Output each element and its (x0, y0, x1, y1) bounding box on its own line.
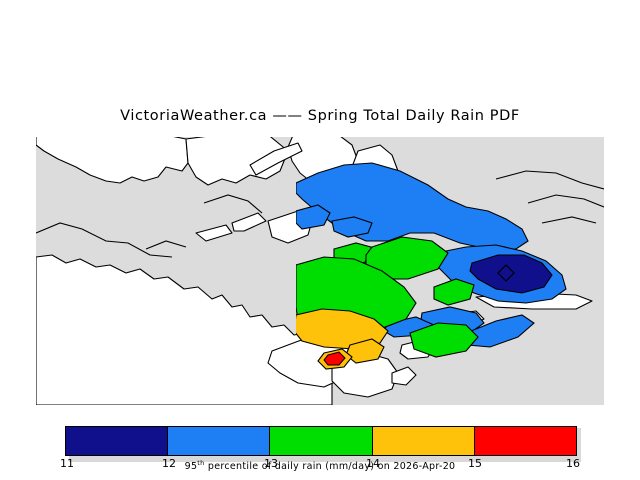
page-title: VictoriaWeather.ca —— Spring Total Daily… (0, 108, 640, 124)
weather-map-page: VictoriaWeather.ca —— Spring Total Daily… (0, 0, 640, 480)
colorbar[interactable] (65, 426, 577, 456)
colorbar-segment-14-15[interactable] (373, 427, 475, 455)
colorbar-segment-15-16[interactable] (475, 427, 576, 455)
map-canvas[interactable] (36, 137, 604, 405)
colorbar-segment-12-13[interactable] (168, 427, 270, 455)
colorbar-segment-13-14[interactable] (270, 427, 372, 455)
caption-rest: percentile of daily rain (mm/day) on 202… (205, 461, 456, 472)
colorbar-segment-11-12[interactable] (66, 427, 168, 455)
caption-superscript: th (197, 459, 204, 467)
map-panel[interactable] (36, 137, 604, 405)
caption-prefix: 95 (185, 461, 198, 472)
colorbar-caption: 95th percentile of daily rain (mm/day) o… (0, 459, 640, 472)
